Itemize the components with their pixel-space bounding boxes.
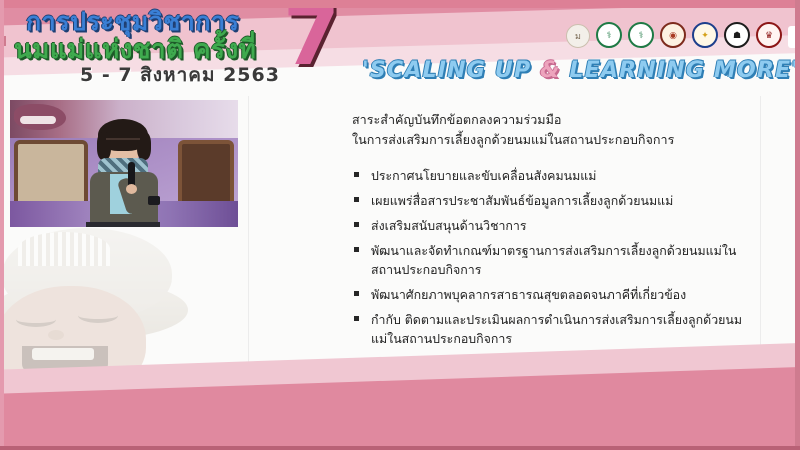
conference-tagline: 'SCALING UP & LEARNING MORE' <box>362 58 799 83</box>
list-item: เผยแพร่สื่อสารประชาสัมพันธ์ข้อมูลการเลี้… <box>352 191 752 210</box>
list-item: ประกาศนโยบายและขับเคลื่อนสังคมนมแม่ <box>352 166 752 185</box>
list-item: พัฒนาศักยภาพบุคลากรสาธารณสุขตลอดจนภาคีที… <box>352 285 752 304</box>
logo-glyph: ม <box>575 29 581 43</box>
lead-line-2: ในการส่งเสริมการเลี้ยงลูกด้วยนมแม่ในสถาน… <box>352 130 752 150</box>
logo-glyph: ⚕ <box>607 30 612 41</box>
list-item-label: เผยแพร่สื่อสารประชาสัมพันธ์ข้อมูลการเลี้… <box>371 193 673 208</box>
bullet-square-icon <box>354 197 359 202</box>
presentation-slide: การประชุมวิชาการ นมแม่แห่งชาติ ครั้งที่ … <box>0 0 800 450</box>
logo-ministry-public-health-2-icon: ⚕ <box>628 22 654 48</box>
lead-paragraph: สาระสำคัญบันทึกข้อตกลงความร่วมมือ ในการส… <box>352 110 752 150</box>
logo-ministry-public-health-1-icon: ⚕ <box>596 22 622 48</box>
bullet-square-icon <box>354 291 359 296</box>
logo-black-seal-icon: ☗ <box>724 22 750 48</box>
bullet-square-icon <box>354 172 359 177</box>
list-item-label: พัฒนาศักยภาพบุคลากรสาธารณสุขตลอดจนภาคีที… <box>371 287 686 302</box>
sponsor-logo-row: ม ⚕ ⚕ ◉ ✦ ☗ ♛ สสส <box>566 22 800 48</box>
slide-footer-wave <box>0 340 800 450</box>
logo-red-crest-icon: ♛ <box>756 22 782 48</box>
baby-hat-stripes <box>18 232 110 266</box>
logo-thai-emblem-icon: ม <box>566 24 590 48</box>
slide-frame-right <box>795 0 800 450</box>
list-item: พัฒนาและจัดทำเกณฑ์มาตรฐานการส่งเสริมการเ… <box>352 241 752 279</box>
stage-armchair-left <box>14 140 88 210</box>
bullet-list: ประกาศนโยบายและขับเคลื่อนสังคมนมแม่ เผยแ… <box>352 166 752 348</box>
slide-frame-top <box>0 0 800 8</box>
list-item: ส่งเสริมสนับสนุนด้านวิชาการ <box>352 216 752 235</box>
baby-eye-right <box>78 308 118 323</box>
logo-glyph: ☗ <box>733 30 741 41</box>
conference-date: 5 - 7 สิงหาคม 2563 <box>80 60 280 90</box>
lead-line-1: สาระสำคัญบันทึกข้อตกลงความร่วมมือ <box>352 110 752 130</box>
conference-edition-number: 7 <box>283 0 340 78</box>
speaker-hand <box>126 184 137 194</box>
conference-speaker-video-still <box>10 100 238 227</box>
slide-text-content: สาระสำคัญบันทึกข้อตกลงความร่วมมือ ในการส… <box>352 110 752 354</box>
bullet-square-icon <box>354 316 359 321</box>
baby-eye-left <box>16 312 56 327</box>
presentation-clicker <box>148 196 160 205</box>
tagline-ampersand: & <box>540 58 560 83</box>
speaker-glasses <box>106 138 140 148</box>
bullet-square-icon <box>354 247 359 252</box>
baby-nose <box>48 330 64 340</box>
logo-glyph: ✦ <box>701 30 709 41</box>
tagline-part-1: 'SCALING UP <box>362 58 540 83</box>
logo-royal-crest-red-icon: ◉ <box>660 22 686 48</box>
backdrop-lips-graphic <box>14 104 66 130</box>
speaker-figure <box>86 122 162 227</box>
logo-glyph: ◉ <box>669 30 677 41</box>
logo-royal-garuda-blue-icon: ✦ <box>692 22 718 48</box>
tagline-part-2: LEARNING MORE' <box>561 58 800 83</box>
list-item-label: ประกาศนโยบายและขับเคลื่อนสังคมนมแม่ <box>371 168 596 183</box>
list-item-label: ส่งเสริมสนับสนุนด้านวิชาการ <box>371 218 527 233</box>
speaker-lap <box>86 222 160 227</box>
slide-frame-left <box>0 0 4 450</box>
logo-glyph: ♛ <box>765 30 773 41</box>
list-item-label: พัฒนาและจัดทำเกณฑ์มาตรฐานการส่งเสริมการเ… <box>371 243 736 277</box>
bullet-square-icon <box>354 222 359 227</box>
slide-frame-bottom <box>0 446 800 450</box>
logo-glyph: ⚕ <box>639 30 644 41</box>
